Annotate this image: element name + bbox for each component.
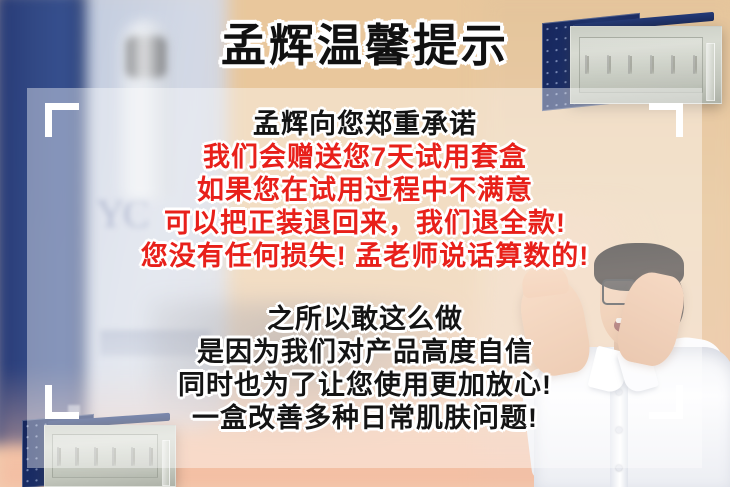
copy-line: 如果您在试用过程中不满意 <box>0 174 730 207</box>
copy-line: 一盒改善多种日常肌肤问题! <box>0 402 730 435</box>
copy-line: 之所以敢这么做 <box>0 303 730 336</box>
copy-block-separator <box>0 273 730 303</box>
copy-line: 同时也为了让您使用更加放心! <box>0 369 730 402</box>
page-title: 孟辉温馨提示 <box>0 20 730 72</box>
copy-line: 孟辉向您郑重承诺 <box>0 108 730 141</box>
copy-line: 您没有任何损失! 孟老师说话算数的! <box>0 240 730 273</box>
copy-line: 我们会赠送您7天试用套盒 <box>0 141 730 174</box>
promise-copy: 孟辉向您郑重承诺 我们会赠送您7天试用套盒 如果您在试用过程中不满意 可以把正装… <box>0 108 730 435</box>
copy-line: 可以把正装退回来，我们退全款! <box>0 207 730 240</box>
poster-canvas: YC YC YC <box>0 0 730 487</box>
copy-line: 是因为我们对产品高度自信 <box>0 336 730 369</box>
